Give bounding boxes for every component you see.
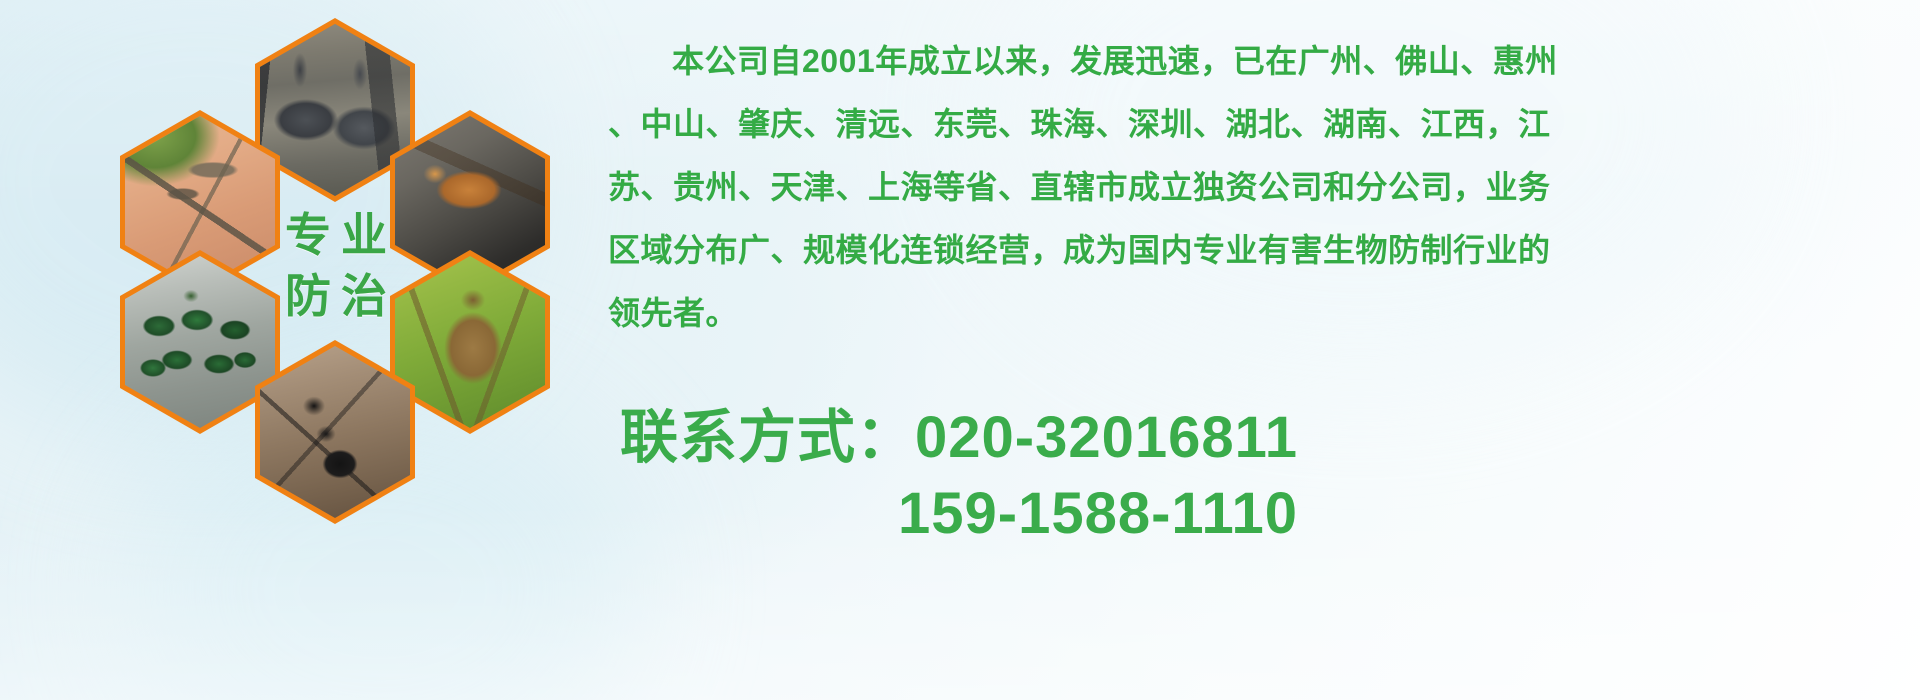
logo-slogan-line-1: 专业	[261, 205, 411, 266]
logo-slogan: 专业 防治	[261, 205, 411, 326]
description-line-4: 区域分布广、规模化连锁经营，成为国内专业有害生物防制行业的	[608, 223, 1908, 278]
contact-label: 联系方式：	[620, 405, 915, 470]
description-line-3: 苏、贵州、天津、上海等省、直辖市成立独资公司和分公司，业务	[608, 160, 1908, 215]
description-line-5: 领先者。	[608, 286, 1908, 341]
description-line-1: 本公司自2001年成立以来，发展迅速，已在广州、佛山、惠州	[608, 34, 1908, 89]
description-line-2: 、中山、肇庆、清远、东莞、珠海、深圳、湖北、湖南、江西，江	[608, 97, 1908, 152]
company-description: 本公司自2001年成立以来，发展迅速，已在广州、佛山、惠州 、中山、肇庆、清远、…	[608, 34, 1908, 349]
contact-phone-2[interactable]: 159-1588-1110	[898, 481, 1298, 546]
pest-control-banner: 专业 防治 本公司自2001年成立以来，发展迅速，已在广州、佛山、惠州 、中山、…	[0, 0, 1920, 700]
contact-primary-line: 联系方式：020-32016811	[620, 400, 1920, 476]
hexagon-photo-cluster: 专业 防治	[85, 10, 585, 570]
contact-secondary-line: 159-1588-1110	[620, 476, 1920, 552]
contact-phone-1[interactable]: 020-32016811	[915, 405, 1298, 470]
contact-block: 联系方式：020-32016811 159-1588-1110	[620, 400, 1920, 552]
logo-slogan-line-2: 防治	[261, 266, 411, 327]
